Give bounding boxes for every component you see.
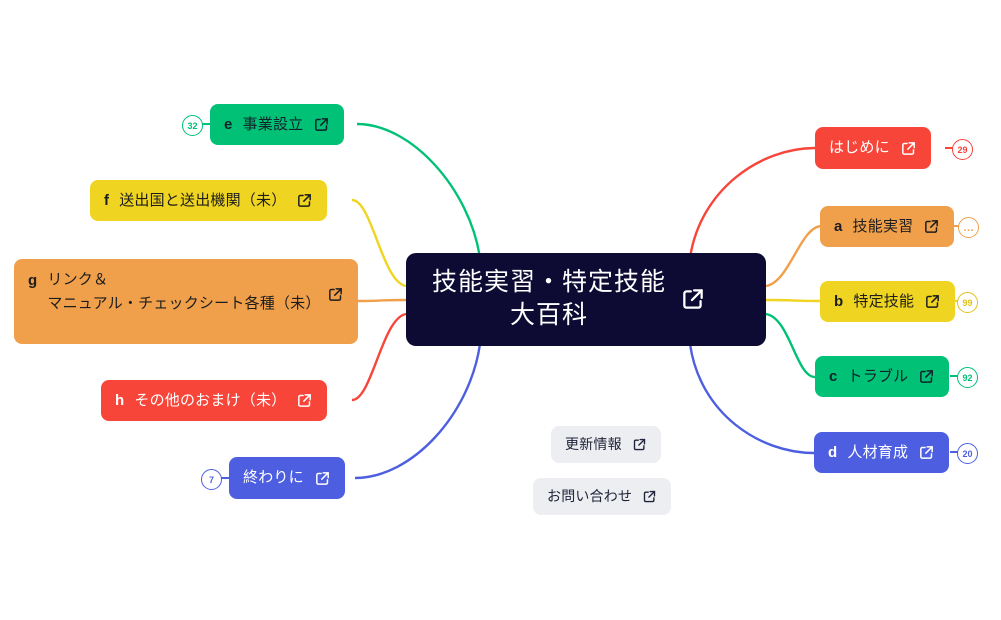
external-link-icon[interactable] — [924, 293, 941, 310]
branch-label-jigyou-setsuritsu: 事業設立 — [243, 113, 304, 136]
edge-central-to-owarini — [355, 344, 480, 478]
external-link-icon[interactable] — [918, 444, 935, 461]
edge-central-to-omake — [352, 314, 406, 400]
badge-trouble[interactable]: 92 — [957, 367, 978, 388]
branch-node-sonota-omake[interactable]: h その他のおまけ（未） — [101, 380, 327, 421]
badge-ginou-jisshu[interactable]: … — [958, 217, 979, 238]
central-node[interactable]: 技能実習・特定技能 大百科 — [406, 253, 766, 346]
branch-key-d: d — [828, 441, 837, 464]
edge-central-to-link — [358, 300, 406, 301]
branch-key-g: g — [28, 269, 37, 293]
branch-label-hajimeni: はじめに — [829, 136, 890, 159]
edge-central-to-soushutsu — [352, 200, 406, 286]
floating-node-otoiawase[interactable]: お問い合わせ — [533, 478, 671, 515]
branch-key-e: e — [224, 113, 233, 136]
floating-node-koushin-jouhou[interactable]: 更新情報 — [551, 426, 661, 463]
branch-key-f: f — [104, 189, 109, 212]
badge-hajimeni[interactable]: 29 — [952, 139, 973, 160]
external-link-icon[interactable] — [900, 140, 917, 157]
branch-key-a: a — [834, 215, 843, 238]
external-link-icon[interactable] — [680, 286, 706, 312]
branch-key-h: h — [115, 389, 124, 412]
external-link-icon[interactable] — [313, 116, 330, 133]
external-link-icon[interactable] — [918, 368, 935, 385]
edge-central-to-ginou — [766, 226, 822, 286]
external-link-icon[interactable] — [327, 286, 344, 303]
edge-central-to-tokutei — [766, 300, 821, 301]
branch-key-b: b — [834, 290, 843, 313]
badge-tokutei-ginou[interactable]: 99 — [957, 292, 978, 313]
badge-jinzai-ikusei[interactable]: 20 — [957, 443, 978, 464]
floating-label-koushin-jouhou: 更新情報 — [565, 434, 622, 456]
branch-label-sonota-omake: その他のおまけ（未） — [134, 389, 286, 412]
edge-central-to-jigyou — [357, 124, 480, 258]
badge-owarini[interactable]: 7 — [201, 469, 222, 490]
edge-central-to-hajimeni — [690, 148, 815, 258]
central-node-label: 技能実習・特定技能 大百科 — [432, 266, 666, 332]
external-link-icon[interactable] — [642, 489, 657, 504]
branch-label-ginou-jisshu: 技能実習 — [853, 215, 914, 238]
edge-central-to-trouble — [766, 314, 815, 377]
branch-node-trouble[interactable]: c トラブル — [815, 356, 949, 397]
branch-node-tokutei-ginou[interactable]: b 特定技能 — [820, 281, 955, 322]
branch-label-jinzai-ikusei: 人材育成 — [847, 441, 908, 464]
branch-label-soushutsu: 送出国と送出機関（未） — [119, 189, 286, 212]
branch-node-jigyou-setsuritsu[interactable]: e 事業設立 — [210, 104, 344, 145]
branch-node-owarini[interactable]: 終わりに — [229, 457, 345, 499]
branch-node-link-manual[interactable]: g リンク＆ マニュアル・チェックシート各種（未） — [14, 259, 358, 344]
external-link-icon[interactable] — [314, 470, 331, 487]
external-link-icon[interactable] — [296, 392, 313, 409]
mindmap-canvas: 技能実習・特定技能 大百科 はじめに 29 a 技能実習 … — [0, 0, 1001, 620]
branch-label-owarini: 終わりに — [243, 466, 304, 489]
branch-node-ginou-jisshu[interactable]: a 技能実習 — [820, 206, 954, 247]
external-link-icon[interactable] — [923, 218, 940, 235]
branch-label-trouble: トラブル — [848, 365, 909, 388]
edge-central-to-jinzai — [690, 344, 814, 453]
external-link-icon[interactable] — [296, 192, 313, 209]
branch-label-link-manual: リンク＆ マニュアル・チェックシート各種（未） — [47, 268, 317, 317]
branch-key-c: c — [829, 365, 838, 388]
branch-node-soushutsu[interactable]: f 送出国と送出機関（未） — [90, 180, 327, 221]
external-link-icon[interactable] — [632, 437, 647, 452]
badge-jigyou-setsuritsu[interactable]: 32 — [182, 115, 203, 136]
floating-label-otoiawase: お問い合わせ — [547, 486, 632, 508]
branch-node-hajimeni[interactable]: はじめに — [815, 127, 931, 169]
branch-node-jinzai-ikusei[interactable]: d 人材育成 — [814, 432, 949, 473]
branch-label-tokutei-ginou: 特定技能 — [853, 290, 914, 313]
